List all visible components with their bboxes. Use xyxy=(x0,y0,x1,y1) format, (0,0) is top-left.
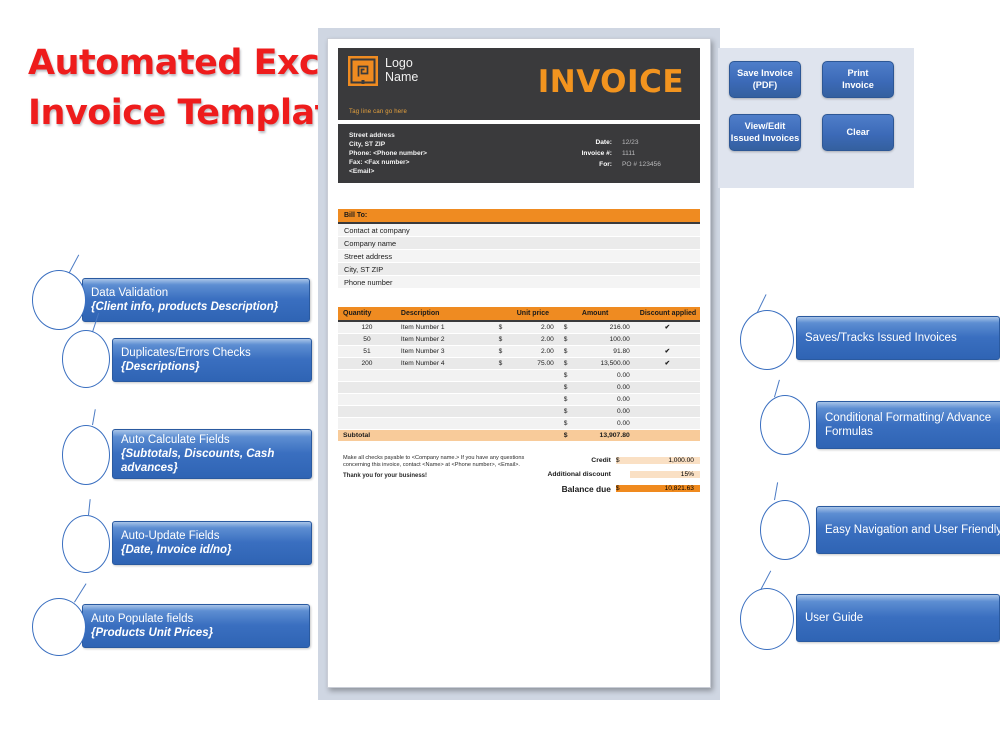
callout-connector-line xyxy=(774,482,778,500)
table-row[interactable]: $0.00 xyxy=(338,405,700,417)
meta-value-date[interactable]: 12/23 xyxy=(612,137,684,148)
cell-description[interactable]: Item Number 2 xyxy=(396,333,494,345)
cell-unit-price-currency[interactable]: $ xyxy=(494,357,512,369)
subtotal-spacer-2 xyxy=(494,429,512,441)
sender-address-band: Street address City, ST ZIP Phone: <Phon… xyxy=(338,124,700,183)
total-value-credit[interactable]: 1,000.00 xyxy=(630,457,700,464)
cell-quantity[interactable]: 51 xyxy=(338,345,396,357)
cell-unit-price[interactable]: 2.00 xyxy=(512,321,559,333)
page-title: Automated Excel Invoice Template xyxy=(28,38,328,138)
cell-unit-price-currency[interactable]: $ xyxy=(494,321,512,333)
cell-quantity[interactable] xyxy=(338,417,396,429)
bill-to-row[interactable]: Phone number xyxy=(338,276,700,289)
callout-subtitle: {Products Unit Prices} xyxy=(91,626,301,640)
callout-title: Saves/Tracks Issued Invoices xyxy=(805,331,991,345)
callout-title: Auto Populate fields xyxy=(91,612,301,626)
callout-title: Data Validation xyxy=(91,286,301,300)
col-description: Description xyxy=(396,307,494,321)
invoice-document-frame: Logo Name Tag line can go here INVOICE S… xyxy=(318,28,720,700)
cell-unit-price[interactable] xyxy=(512,381,559,393)
total-label-additional-discount: Additional discount xyxy=(544,471,616,478)
col-discount-applied: Discount applied xyxy=(635,307,700,321)
cell-unit-price[interactable]: 75.00 xyxy=(512,357,559,369)
callout-oval-marker xyxy=(760,500,810,560)
callout-box[interactable]: Easy Navigation and User Friendly xyxy=(816,506,1000,554)
cell-discount-applied[interactable] xyxy=(635,405,700,417)
table-body: 120Item Number 1$2.00$216.00✔50Item Numb… xyxy=(338,321,700,441)
cell-unit-price-currency[interactable] xyxy=(494,393,512,405)
view-edit-label-2: Issued Invoices xyxy=(731,133,799,143)
callout-box[interactable]: Auto Calculate Fields{Subtotals, Discoun… xyxy=(112,429,312,479)
callout-oval-marker xyxy=(62,330,110,388)
cell-amount-currency[interactable]: $ xyxy=(559,369,577,381)
cell-discount-applied[interactable] xyxy=(635,417,700,429)
cell-description[interactable]: Item Number 4 xyxy=(396,357,494,369)
bill-to-row[interactable]: Contact at company xyxy=(338,224,700,237)
subtotal-label: Subtotal xyxy=(338,429,396,441)
footer-note: Make all checks payable to <Company name… xyxy=(343,455,544,470)
cell-discount-applied[interactable] xyxy=(635,381,700,393)
tagline: Tag line can go here xyxy=(349,109,407,115)
callout-subtitle: {Date, Invoice id/no} xyxy=(121,543,303,557)
spacer xyxy=(338,289,700,307)
callout-title: Conditional Formatting/ Advance Formulas xyxy=(825,411,1000,439)
cell-amount-currency[interactable]: $ xyxy=(559,357,577,369)
cell-amount[interactable]: 0.00 xyxy=(577,405,635,417)
cell-amount[interactable]: 91.80 xyxy=(577,345,635,357)
total-label-credit: Credit xyxy=(544,457,616,464)
print-invoice-label-2: Invoice xyxy=(842,80,874,90)
bill-to-section: Bill To: Contact at company Company name… xyxy=(338,209,700,289)
callout-oval-marker xyxy=(32,270,86,330)
cell-discount-applied[interactable]: ✔ xyxy=(635,357,700,369)
total-value-balance-due: 10,821.63 xyxy=(630,485,700,492)
cell-discount-applied[interactable]: ✔ xyxy=(635,345,700,357)
cell-amount[interactable]: 0.00 xyxy=(577,417,635,429)
view-edit-issued-invoices-button[interactable]: View/EditIssued Invoices xyxy=(729,114,801,151)
cell-discount-applied[interactable] xyxy=(635,393,700,405)
footer-note-block: Make all checks payable to <Company name… xyxy=(338,455,544,497)
invoice-footer: Make all checks payable to <Company name… xyxy=(338,455,700,497)
callout-subtitle: {Client info, products Description} xyxy=(91,300,301,314)
spacer xyxy=(338,183,700,209)
cell-discount-applied[interactable]: ✔ xyxy=(635,321,700,333)
total-value-additional-discount[interactable]: 15% xyxy=(630,471,700,478)
cell-unit-price-currency[interactable] xyxy=(494,417,512,429)
callout-oval-marker xyxy=(62,515,110,573)
meta-label-date: Date: xyxy=(552,137,612,148)
cell-unit-price[interactable] xyxy=(512,405,559,417)
clear-button[interactable]: Clear xyxy=(822,114,894,151)
cell-amount[interactable]: 13,500.00 xyxy=(577,357,635,369)
callout-oval-marker xyxy=(32,598,86,656)
cell-amount[interactable]: 0.00 xyxy=(577,381,635,393)
subtotal-currency: $ xyxy=(559,429,577,441)
bill-to-row[interactable]: Street address xyxy=(338,250,700,263)
table-row[interactable]: 50Item Number 2$2.00$100.00 xyxy=(338,333,700,345)
page-title-line-1: Automated Excel xyxy=(28,38,328,88)
view-edit-label-1: View/Edit xyxy=(745,121,786,131)
callout-connector-line xyxy=(92,409,96,425)
cell-description[interactable] xyxy=(396,405,494,417)
logo-name-line-1: Logo xyxy=(385,56,413,70)
callout-box[interactable]: Saves/Tracks Issued Invoices xyxy=(796,316,1000,360)
save-invoice-label-2: (PDF) xyxy=(753,80,778,90)
cell-discount-applied[interactable] xyxy=(635,369,700,381)
subtotal-row: Subtotal$13,907.80 xyxy=(338,429,700,441)
table-row[interactable]: 51Item Number 3$2.00$91.80✔ xyxy=(338,345,700,357)
cell-unit-price-currency[interactable]: $ xyxy=(494,345,512,357)
callout-title: Auto-Update Fields xyxy=(121,529,303,543)
cell-description[interactable] xyxy=(396,417,494,429)
action-button-panel: Save Invoice(PDF) PrintInvoice View/Edit… xyxy=(718,48,914,188)
meta-row: Date: 12/23 xyxy=(552,137,684,148)
save-invoice-label-1: Save Invoice xyxy=(737,68,793,78)
cell-amount[interactable]: 216.00 xyxy=(577,321,635,333)
callout-oval-marker xyxy=(62,425,110,485)
callout-box[interactable]: User Guide xyxy=(796,594,1000,642)
cell-quantity[interactable] xyxy=(338,381,396,393)
col-amount: Amount xyxy=(577,307,635,321)
table-row[interactable]: $0.00 xyxy=(338,369,700,381)
meta-label-invoice-no: Invoice #: xyxy=(552,148,612,159)
callout-box[interactable]: Duplicates/Errors Checks{Descriptions} xyxy=(112,338,312,382)
table-row[interactable]: $0.00 xyxy=(338,381,700,393)
cell-description[interactable] xyxy=(396,381,494,393)
subtotal-spacer-4 xyxy=(635,429,700,441)
square-spiral-logo-icon xyxy=(348,56,378,86)
callout-subtitle: {Descriptions} xyxy=(121,360,303,374)
subtotal-value: 13,907.80 xyxy=(577,429,635,441)
callout-connector-line xyxy=(88,499,91,515)
table-row[interactable]: 120Item Number 1$2.00$216.00✔ xyxy=(338,321,700,333)
cell-unit-price[interactable]: 2.00 xyxy=(512,345,559,357)
cell-unit-price[interactable] xyxy=(512,393,559,405)
save-invoice-pdf-button[interactable]: Save Invoice(PDF) xyxy=(729,61,801,98)
cell-unit-price-currency[interactable] xyxy=(494,369,512,381)
line-items-table: Quantity Description Unit price Amount D… xyxy=(338,307,700,442)
meta-row: Invoice #: 1111 xyxy=(552,148,684,159)
cell-amount-currency[interactable]: $ xyxy=(559,405,577,417)
col-unit-price: Unit price xyxy=(512,307,559,321)
cell-unit-price-currency[interactable] xyxy=(494,405,512,417)
subtotal-spacer xyxy=(396,429,494,441)
invoice-header: Logo Name Tag line can go here INVOICE xyxy=(338,48,700,120)
callout-title: Duplicates/Errors Checks xyxy=(121,346,303,360)
callout-title: User Guide xyxy=(805,611,991,625)
invoice-page: Logo Name Tag line can go here INVOICE S… xyxy=(327,38,711,688)
print-invoice-label-1: Print xyxy=(848,68,869,78)
cell-amount[interactable]: 0.00 xyxy=(577,369,635,381)
cell-discount-applied[interactable] xyxy=(635,333,700,345)
logo-name-line-2: Name xyxy=(385,70,418,84)
callout-box[interactable]: Conditional Formatting/ Advance Formulas xyxy=(816,401,1000,449)
meta-value-invoice-no[interactable]: 1111 xyxy=(612,148,684,159)
callout-oval-marker xyxy=(740,588,794,650)
callout-title: Auto Calculate Fields xyxy=(121,433,303,447)
callout-oval-marker xyxy=(760,395,810,455)
invoice-heading: INVOICE xyxy=(538,64,684,100)
cell-unit-price[interactable] xyxy=(512,369,559,381)
logo-name: Logo Name xyxy=(385,56,418,84)
col-unit-price-currency xyxy=(494,307,512,321)
table-header-row: Quantity Description Unit price Amount D… xyxy=(338,307,700,321)
meta-value-for[interactable]: PO # 123456 xyxy=(612,159,684,170)
subtotal-spacer-3 xyxy=(512,429,559,441)
cell-quantity[interactable] xyxy=(338,393,396,405)
cell-amount-currency[interactable]: $ xyxy=(559,321,577,333)
cell-description[interactable]: Item Number 3 xyxy=(396,345,494,357)
callout-connector-line xyxy=(74,583,87,602)
total-label-balance-due: Balance due xyxy=(544,484,616,494)
cell-amount-currency[interactable]: $ xyxy=(559,381,577,393)
cell-amount-currency[interactable]: $ xyxy=(559,333,577,345)
meta-row: For: PO # 123456 xyxy=(552,159,684,170)
callout-oval-marker xyxy=(740,310,794,370)
callout-box[interactable]: Data Validation{Client info, products De… xyxy=(82,278,310,322)
cell-amount-currency[interactable]: $ xyxy=(559,393,577,405)
cell-quantity[interactable]: 200 xyxy=(338,357,396,369)
total-currency-credit: $ xyxy=(616,457,630,464)
table-row[interactable]: $0.00 xyxy=(338,393,700,405)
bill-to-row[interactable]: Company name xyxy=(338,237,700,250)
cell-amount-currency[interactable]: $ xyxy=(559,345,577,357)
total-currency-balance-due: $ xyxy=(616,485,630,492)
col-amount-currency xyxy=(559,307,577,321)
callout-box[interactable]: Auto Populate fields{Products Unit Price… xyxy=(82,604,310,648)
cell-quantity[interactable] xyxy=(338,405,396,417)
cell-unit-price-currency[interactable] xyxy=(494,381,512,393)
cell-quantity[interactable] xyxy=(338,369,396,381)
clear-label: Clear xyxy=(847,127,870,139)
bill-to-header: Bill To: xyxy=(338,209,700,224)
total-row-balance-due: Balance due $ 10,821.63 xyxy=(544,483,700,495)
cell-amount[interactable]: 0.00 xyxy=(577,393,635,405)
total-row-additional-discount: Additional discount 15% xyxy=(544,469,700,481)
table-row[interactable]: 200Item Number 4$75.00$13,500.00✔ xyxy=(338,357,700,369)
invoice-meta: Date: 12/23 Invoice #: 1111 For: PO # 12… xyxy=(552,137,684,170)
cell-description[interactable] xyxy=(396,393,494,405)
meta-label-for: For: xyxy=(552,159,612,170)
table-row[interactable]: $0.00 xyxy=(338,417,700,429)
col-quantity: Quantity xyxy=(338,307,396,321)
callout-box[interactable]: Auto-Update Fields{Date, Invoice id/no} xyxy=(112,521,312,565)
cell-quantity[interactable]: 120 xyxy=(338,321,396,333)
cell-quantity[interactable]: 50 xyxy=(338,333,396,345)
cell-description[interactable] xyxy=(396,369,494,381)
print-invoice-button[interactable]: PrintInvoice xyxy=(822,61,894,98)
callout-subtitle: {Subtotals, Discounts, Cash advances} xyxy=(121,447,303,475)
cell-amount-currency[interactable]: $ xyxy=(559,417,577,429)
page-title-line-2: Invoice Template xyxy=(28,88,328,138)
cell-unit-price-currency[interactable]: $ xyxy=(494,333,512,345)
cell-description[interactable]: Item Number 1 xyxy=(396,321,494,333)
totals-block: Credit $ 1,000.00 Additional discount 15… xyxy=(544,455,700,497)
bill-to-row[interactable]: City, ST ZIP xyxy=(338,263,700,276)
footer-thanks: Thank you for your business! xyxy=(343,473,544,481)
cell-unit-price[interactable]: 2.00 xyxy=(512,333,559,345)
total-row-credit: Credit $ 1,000.00 xyxy=(544,455,700,467)
cell-amount[interactable]: 100.00 xyxy=(577,333,635,345)
cell-unit-price[interactable] xyxy=(512,417,559,429)
callout-title: Easy Navigation and User Friendly xyxy=(825,523,1000,537)
